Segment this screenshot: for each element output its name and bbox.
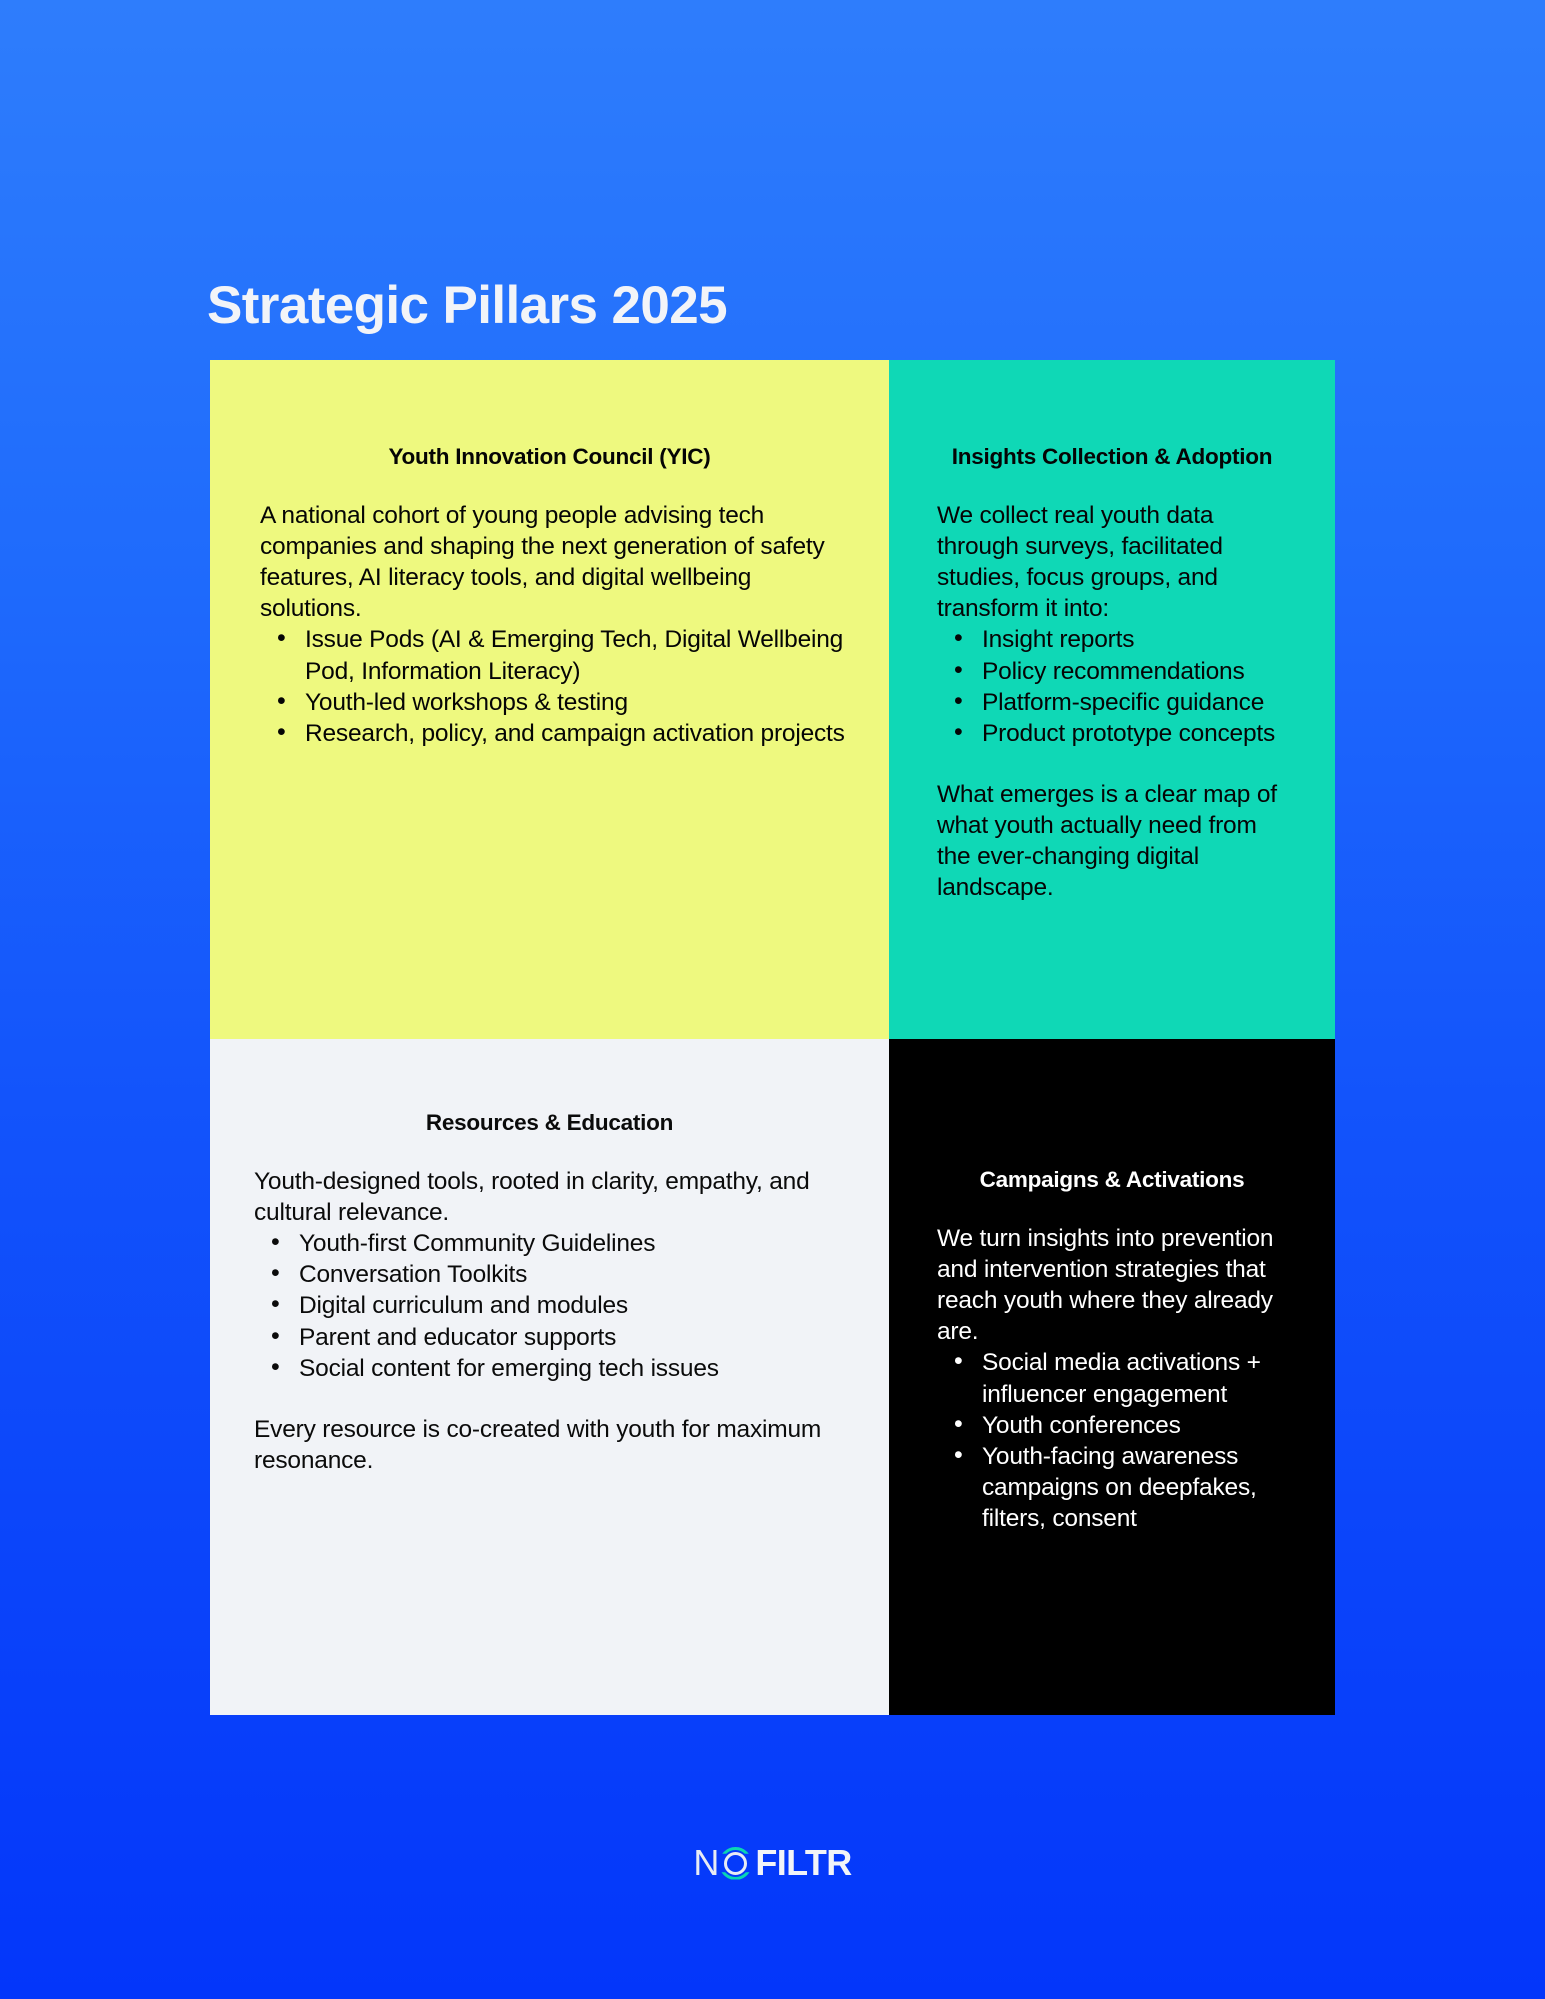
panel-body-yic: A national cohort of young people advisi… — [254, 500, 845, 749]
list-item: Issue Pods (AI & Emerging Tech, Digital … — [260, 624, 845, 686]
panel-bullets-insights: Insight reports Policy recommendations P… — [937, 624, 1291, 748]
panel-heading-resources: Resources & Education — [254, 1109, 845, 1136]
list-item: Youth-first Community Guidelines — [254, 1228, 845, 1259]
footer: N FILTR — [0, 1845, 1545, 1881]
list-item: Youth-facing awareness campaigns on deep… — [937, 1441, 1291, 1534]
list-item: Youth conferences — [937, 1410, 1291, 1441]
panel-bullets-yic: Issue Pods (AI & Emerging Tech, Digital … — [260, 624, 845, 748]
list-item: Parent and educator supports — [254, 1322, 845, 1353]
list-item: Youth-led workshops & testing — [260, 687, 845, 718]
panel-heading-yic: Youth Innovation Council (YIC) — [254, 443, 845, 470]
panel-body-campaigns: We turn insights into prevention and int… — [933, 1223, 1291, 1534]
panel-heading-insights: Insights Collection & Adoption — [933, 443, 1291, 470]
panel-bullets-resources: Youth-first Community Guidelines Convers… — [254, 1228, 845, 1384]
panel-lead-insights: We collect real youth data through surve… — [937, 500, 1291, 624]
list-item: Insight reports — [937, 624, 1291, 655]
panel-lead-yic: A national cohort of young people advisi… — [260, 500, 845, 624]
panel-tail-insights: What emerges is a clear map of what yout… — [937, 779, 1291, 903]
panel-youth-innovation-council: Youth Innovation Council (YIC) A nationa… — [210, 360, 889, 1039]
panel-campaigns-activations: Campaigns & Activations We turn insights… — [889, 1039, 1335, 1715]
nofiltr-logo: N FILTR — [693, 1845, 851, 1881]
panel-lead-campaigns: We turn insights into prevention and int… — [937, 1223, 1291, 1347]
list-item: Policy recommendations — [937, 656, 1291, 687]
list-item: Social content for emerging tech issues — [254, 1353, 845, 1384]
page-title: Strategic Pillars 2025 — [207, 278, 727, 334]
panel-bullets-campaigns: Social media activations + influencer en… — [937, 1347, 1291, 1534]
panel-lead-resources: Youth-designed tools, rooted in clarity,… — [254, 1166, 845, 1228]
list-item: Conversation Toolkits — [254, 1259, 845, 1290]
slide-root: Strategic Pillars 2025 Youth Innovation … — [0, 0, 1545, 1999]
panel-heading-campaigns: Campaigns & Activations — [933, 1166, 1291, 1193]
panel-tail-resources: Every resource is co-created with youth … — [254, 1414, 845, 1476]
panel-body-resources: Youth-designed tools, rooted in clarity,… — [254, 1166, 845, 1476]
list-item: Digital curriculum and modules — [254, 1290, 845, 1321]
logo-text-filtr: FILTR — [755, 1845, 851, 1881]
list-item: Platform-specific guidance — [937, 687, 1291, 718]
panel-insights-collection-adoption: Insights Collection & Adoption We collec… — [889, 360, 1335, 1039]
list-item: Social media activations + influencer en… — [937, 1347, 1291, 1409]
logo-text-n: N — [693, 1845, 718, 1881]
panel-body-insights: We collect real youth data through surve… — [933, 500, 1291, 903]
panel-resources-education: Resources & Education Youth-designed too… — [210, 1039, 889, 1715]
list-item: Product prototype concepts — [937, 718, 1291, 749]
list-item: Research, policy, and campaign activatio… — [260, 718, 845, 749]
logo-ring-o-icon — [719, 1847, 752, 1880]
strategic-pillars-grid: Youth Innovation Council (YIC) A nationa… — [210, 360, 1335, 1715]
